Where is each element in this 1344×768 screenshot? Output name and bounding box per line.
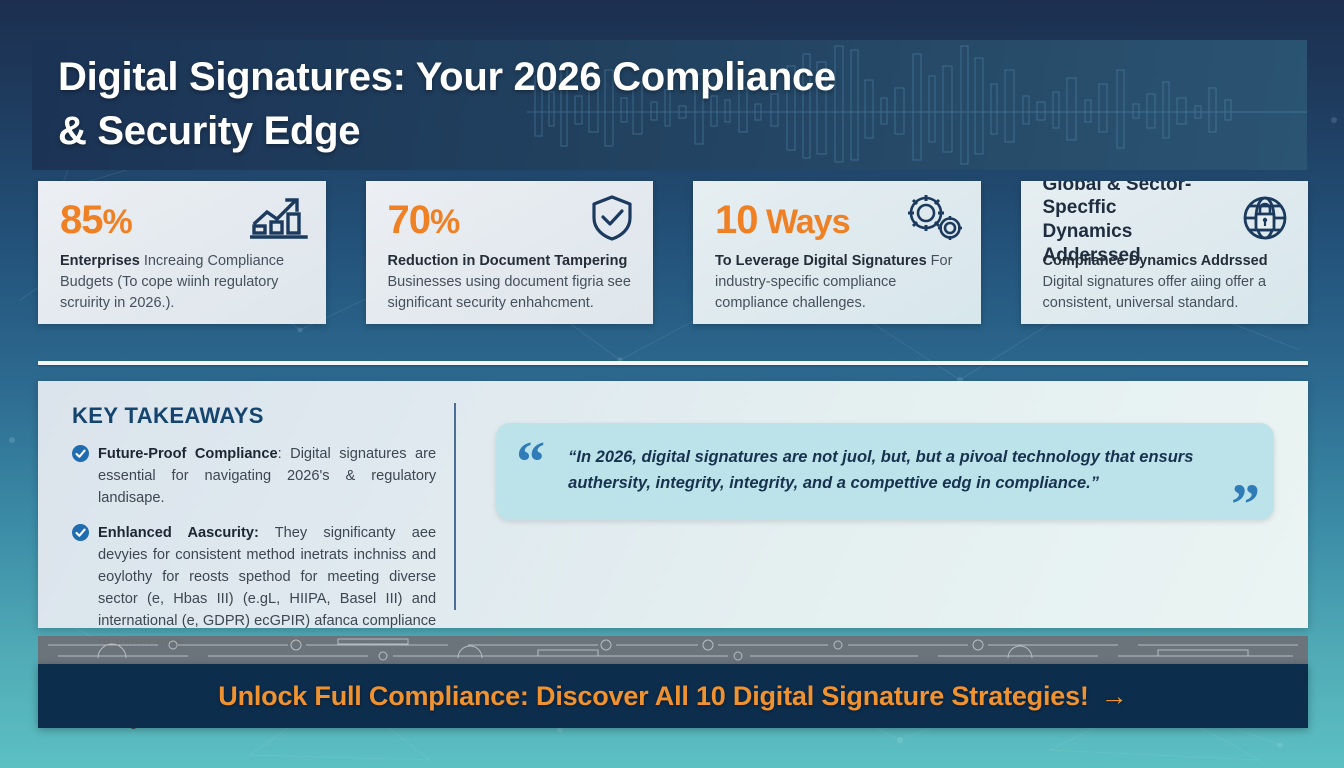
stat-description: Digital signatures offer aiing offer a c…	[1043, 274, 1267, 311]
takeaway-lead: Enhlanced Aascurity:	[98, 525, 259, 541]
takeaway-lead: Future-Proof Compliance	[98, 446, 278, 462]
stat-lead-text: To Leverage Digital Signatures	[715, 253, 927, 269]
stat-card-body: Compliance Dynamics Addrssed Digital sig…	[1043, 251, 1291, 314]
blueprint-decoration-strip	[38, 636, 1308, 664]
stat-card-enterprises[interactable]: 85% Enterprises Increa	[38, 181, 326, 324]
check-circle-icon	[72, 445, 89, 467]
cta-label: Unlock Full Compliance: Discover All 10 …	[218, 681, 1088, 712]
takeaway-detail: They significanty aee devyies for consis…	[98, 525, 436, 652]
shield-check-icon	[589, 193, 635, 248]
pull-quote-box: “ “In 2026, digital signatures are not j…	[496, 423, 1274, 520]
globe-lock-icon	[1240, 193, 1290, 248]
list-item[interactable]: Enhlanced Aascurity: They significanty a…	[72, 522, 436, 655]
stat-card-header: 70%	[388, 195, 636, 245]
stat-card-header: 85%	[60, 195, 308, 245]
stat-card-header: 10 Ways	[715, 195, 963, 245]
list-item[interactable]: Future-Proof Compliance: Digital signatu…	[72, 443, 436, 510]
stat-card-body: Reduction in Document Tampering Business…	[388, 251, 636, 314]
quote-close-icon: ”	[1231, 476, 1260, 534]
stat-lead-text: Enterprises	[60, 253, 144, 269]
gears-icon	[903, 194, 963, 247]
quote-open-icon: “	[516, 433, 545, 491]
stat-lead-text: Reduction in Document Tampering	[388, 253, 628, 269]
growth-bar-chart-icon	[250, 195, 308, 246]
stat-cards-row: 85% Enterprises Increa	[38, 181, 1308, 324]
takeaways-list-column: KEY TAKEAWAYS Future-Proof Compliance: D…	[38, 381, 454, 628]
page-title: Digital Signatures: Your 2026 Compliance…	[58, 50, 1068, 159]
arrow-right-icon: →	[1101, 681, 1128, 712]
stat-card-body: Enterprises Increaing Compliance Budgets…	[60, 251, 308, 314]
stat-card-ten-ways[interactable]: 10 Ways	[693, 181, 981, 324]
infographic-canvas: Digital Signatures: Your 2026 Compliance…	[0, 0, 1344, 768]
stat-card-header: Global & Sector-Specffic Dynamics Adders…	[1043, 195, 1291, 245]
check-circle-icon	[72, 524, 89, 546]
stat-lead-text: Compliance Dynamics Addrssed	[1043, 253, 1268, 269]
stat-card-body: To Leverage Digital Signatures For indus…	[715, 251, 963, 314]
quote-text: “In 2026, digital signatures are not juo…	[568, 445, 1240, 496]
header-banner: Digital Signatures: Your 2026 Compliance…	[32, 40, 1307, 170]
takeaways-heading: KEY TAKEAWAYS	[72, 403, 436, 429]
takeaway-body: Enhlanced Aascurity: They significanty a…	[98, 522, 436, 655]
stat-card-tampering[interactable]: 70% Reduction in Document Tampering Busi…	[366, 181, 654, 324]
cta-banner[interactable]: Unlock Full Compliance: Discover All 10 …	[38, 664, 1308, 728]
stat-value: 70%	[388, 200, 460, 240]
stat-value: 85%	[60, 200, 132, 240]
blueprint-lines	[38, 636, 1308, 664]
stat-description: Businesses using document figria see sig…	[388, 274, 631, 311]
takeaway-body: Future-Proof Compliance: Digital signatu…	[98, 443, 436, 510]
key-takeaways-panel: KEY TAKEAWAYS Future-Proof Compliance: D…	[38, 381, 1308, 628]
quote-column: “ “In 2026, digital signatures are not j…	[456, 381, 1308, 628]
section-divider	[38, 361, 1308, 365]
stat-card-global-dynamics[interactable]: Global & Sector-Specffic Dynamics Adders…	[1021, 181, 1309, 324]
stat-value: 10 Ways	[715, 200, 850, 240]
